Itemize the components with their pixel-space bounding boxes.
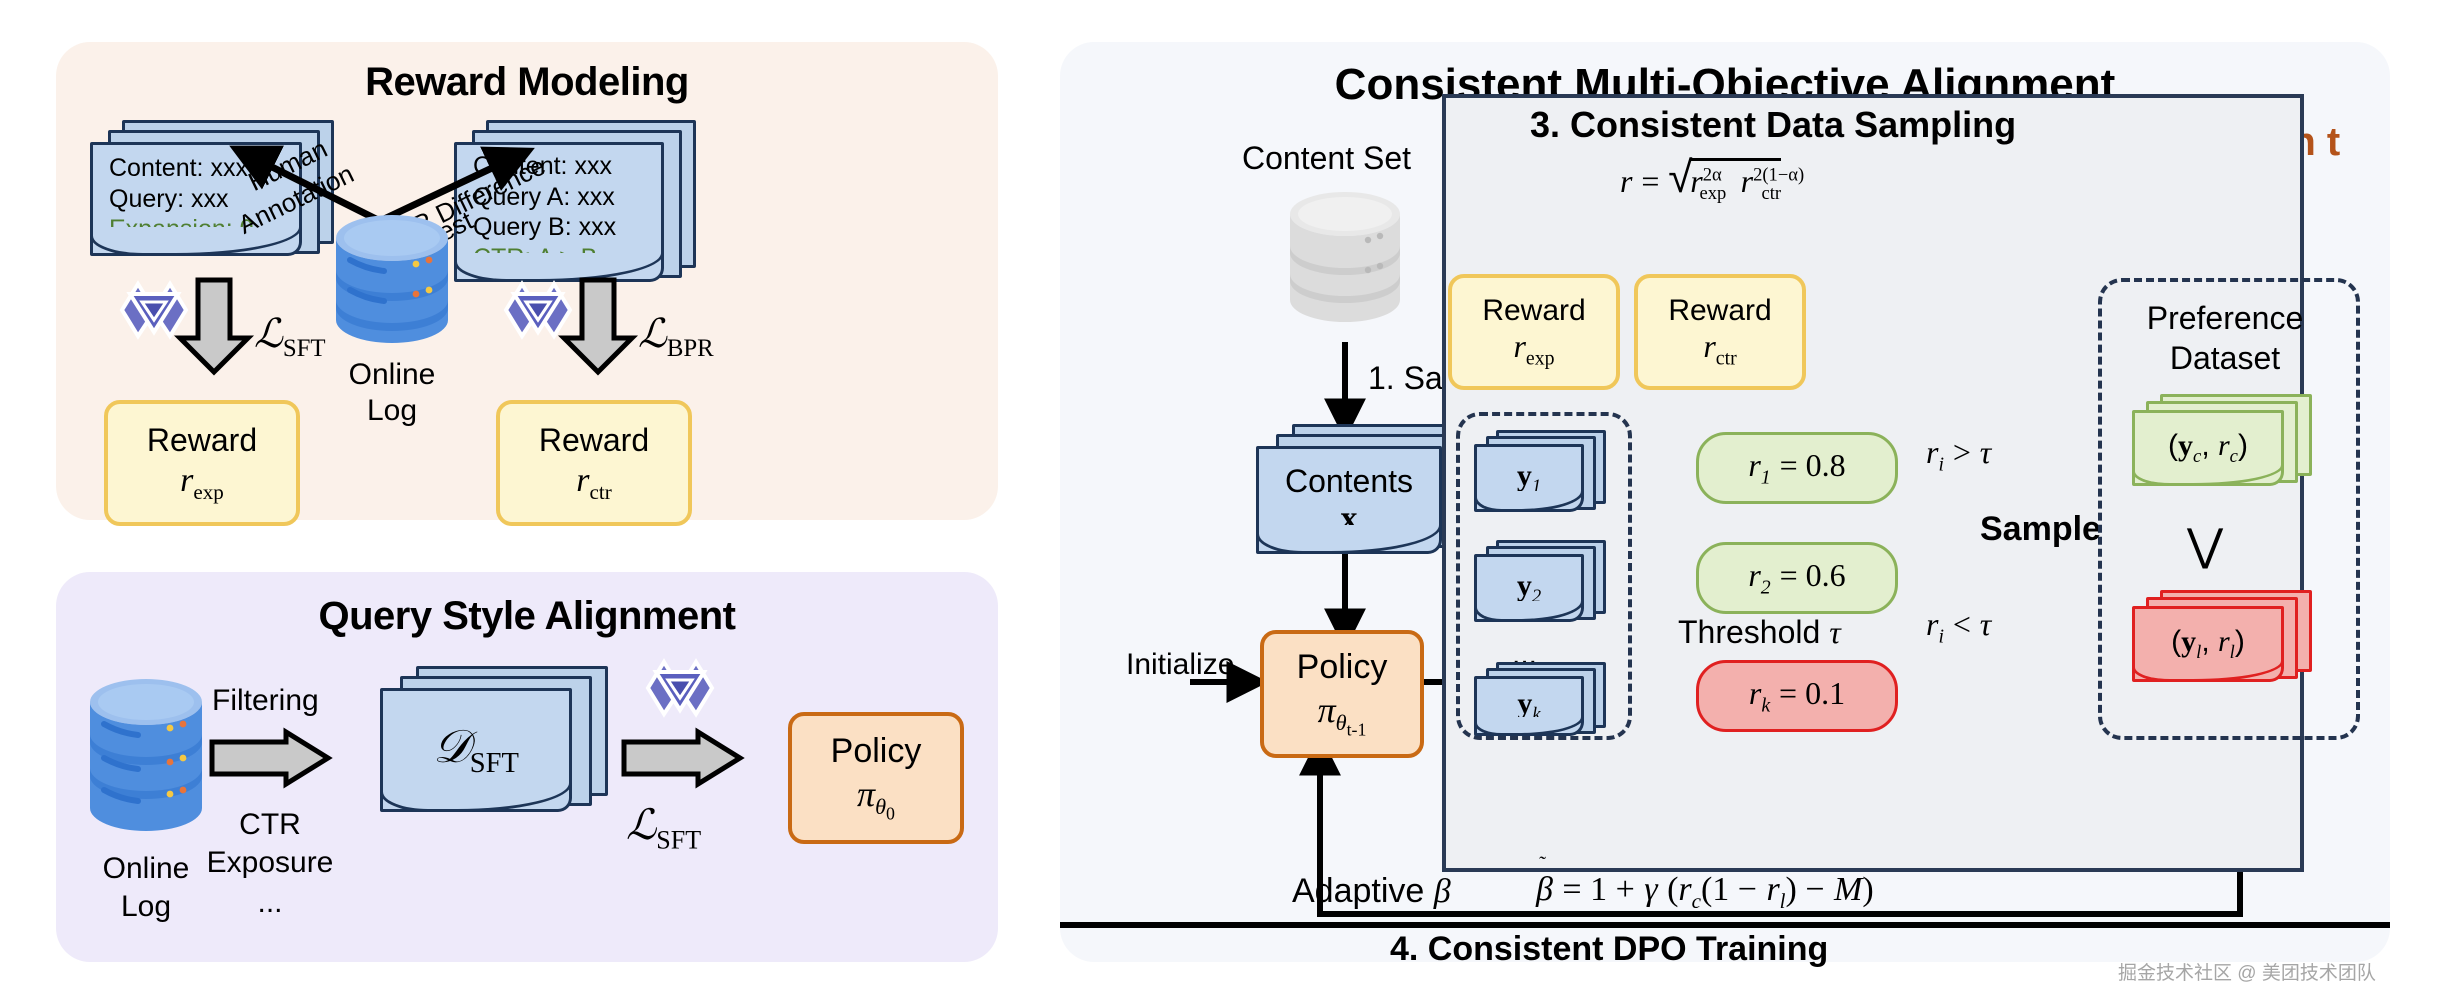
reward-chip-rk-label: rk = 0.1 <box>1749 675 1845 717</box>
bpr-loss-label: ℒBPR <box>638 310 714 363</box>
candidate-y2-card: y2 <box>1474 554 1584 622</box>
card-wave-decoration <box>2132 465 2284 486</box>
model-logo-icon <box>506 284 570 336</box>
card-wave-decoration <box>2132 661 2284 682</box>
query-sft-loss-label: ℒSFT <box>626 800 701 855</box>
threshold-label: Threshold τ <box>1678 614 1841 651</box>
rejected-pair-label: (yl, rl) <box>2171 625 2245 664</box>
card-wave-decoration <box>1256 525 1442 554</box>
query-online-log-label-line1: Online <box>86 852 206 886</box>
condition-above-threshold: ri > τ <box>1926 434 1991 476</box>
down-block-arrow <box>564 280 632 372</box>
contents-label: Contents <box>1285 463 1413 500</box>
preference-dataset-title-line2: Dataset <box>2098 340 2352 377</box>
initialize-label: Initialize <box>1126 648 1234 682</box>
reward-modeling-panel: Reward Modeling Content: xxx Query: xxx … <box>56 42 998 520</box>
dpo-feedback-line <box>1060 922 2390 928</box>
query-style-alignment-panel: Query Style Alignment Online Log Filteri… <box>56 572 998 962</box>
cmoa-reward-exp-title: Reward <box>1482 294 1585 328</box>
sample-label: Sample <box>1980 510 2101 549</box>
model-logo-icon <box>648 662 712 714</box>
step4-label: 4. Consistent DPO Training <box>1390 930 1828 969</box>
step3-title: 3. Consistent Data Sampling <box>1530 104 2016 146</box>
filter-criteria-exposure: Exposure <box>190 846 350 880</box>
contents-card: Contents x <box>1256 446 1442 554</box>
filtering-block-arrow <box>212 732 362 802</box>
reward-exp-box: Reward rexp <box>104 400 300 526</box>
cmoa-reward-ctr-title: Reward <box>1668 294 1771 328</box>
query-sft-loss-subscript: SFT <box>656 825 701 854</box>
reward-ctr-subscript: ctr <box>590 479 612 503</box>
reward-exp-title: Reward <box>147 422 257 459</box>
watermark: 掘金技术社区 @ 美团技术团队 <box>2118 958 2376 985</box>
adaptive-beta-label: Adaptive β <box>1292 872 1451 911</box>
bpr-down-arrow-group <box>474 280 774 390</box>
policy-initial-box: Policy πθ0 <box>788 712 964 844</box>
filter-criteria-ellipsis: ... <box>208 886 332 920</box>
bpr-loss-subscript: BPR <box>667 335 714 362</box>
sft-down-arrow-group <box>90 280 390 390</box>
cmoa-reward-ctr-subscript: ctr <box>1716 347 1737 369</box>
policy-current-symbol: πθt-1 <box>1318 689 1367 741</box>
chosen-pair-stack: (yc, rc) <box>2132 394 2332 504</box>
candidate-yk-card: yk <box>1474 676 1584 736</box>
reward-chip-r1-label: r1 = 0.8 <box>1748 447 1845 489</box>
sft-loss-subscript: SFT <box>283 335 326 362</box>
cmoa-reward-ctr-box: Reward rctr <box>1634 274 1806 390</box>
online-log-database-icon <box>90 678 202 838</box>
preference-dataset-title-line1: Preference <box>2098 300 2352 337</box>
reward-chip-r2: r2 = 0.6 <box>1696 542 1898 614</box>
candidate-y1-card: y1 <box>1474 444 1584 512</box>
candidate-yk-stack: yk <box>1472 662 1612 758</box>
threshold-text: Threshold <box>1678 614 1820 650</box>
chosen-pair-card: (yc, rc) <box>2132 410 2284 486</box>
reward-exp-symbol: rexp <box>180 461 224 505</box>
card-wave-decoration <box>1474 491 1584 512</box>
cmoa-reward-ctr-symbol: rctr <box>1703 328 1736 370</box>
card-wave-decoration <box>1474 601 1584 622</box>
down-block-arrow <box>180 280 248 372</box>
cmoa-reward-exp-symbol: rexp <box>1513 328 1554 370</box>
candidate-y1-stack: y1 <box>1472 430 1612 526</box>
adaptive-text: Adaptive <box>1292 872 1424 910</box>
query-style-alignment-title: Query Style Alignment <box>56 594 998 639</box>
policy-initial-subscript: 0 <box>886 803 895 823</box>
reward-ctr-symbol: rctr <box>576 461 611 505</box>
adaptive-beta-formula: β˜ = 1 + γ (rc(1 − rl) − M) <box>1536 870 1874 914</box>
reward-ctr-box: Reward rctr <box>496 400 692 526</box>
query-online-log-label-line2: Log <box>86 890 206 924</box>
reward-chip-rk: rk = 0.1 <box>1696 660 1898 732</box>
reward-chip-r1: r1 = 0.8 <box>1696 432 1898 504</box>
union-symbol: ⋁ <box>2132 520 2278 571</box>
reward-exp-subscript: exp <box>193 479 223 503</box>
model-logo-icon <box>122 284 186 336</box>
condition-below-threshold: ri < τ <box>1926 606 1991 648</box>
card-wave-decoration <box>1474 717 1584 736</box>
cmoa-reward-exp-subscript: exp <box>1526 347 1555 369</box>
cmoa-reward-exp-box: Reward rexp <box>1448 274 1620 390</box>
policy-current-subscript: t-1 <box>1347 719 1367 739</box>
chosen-pair-label: (yc, rc) <box>2168 429 2248 468</box>
policy-current-title: Policy <box>1297 648 1388 687</box>
rejected-pair-card: (yl, rl) <box>2132 606 2284 682</box>
sft-dataset-card-stack: 𝒟SFT <box>374 666 614 846</box>
sft-dataset-symbol: 𝒟SFT <box>433 719 519 780</box>
policy-initial-title: Policy <box>831 732 922 771</box>
sft-dataset-subscript: SFT <box>470 749 519 780</box>
cmoa-panel: Consistent Multi-Objective Alignment Ite… <box>1060 42 2390 962</box>
filtering-label: Filtering <box>212 684 319 718</box>
sft-loss-label: ℒSFT <box>254 310 326 363</box>
sft-dataset-card: 𝒟SFT <box>380 688 572 812</box>
reward-chip-r2-label: r2 = 0.6 <box>1748 557 1845 599</box>
consistent-reward-formula: r = √ r2αexpr2(1−α)ctr <box>1620 158 1781 205</box>
reward-ctr-title: Reward <box>539 422 649 459</box>
online-log-label-line2: Log <box>332 394 452 428</box>
card-wave-decoration <box>380 783 572 812</box>
rejected-pair-stack: (yl, rl) <box>2132 590 2332 700</box>
right-block-arrow <box>624 732 740 784</box>
policy-initial-symbol: πθ0 <box>857 773 895 825</box>
filter-criteria-ctr: CTR <box>208 808 332 842</box>
candidate-y2-stack: y2 <box>1472 540 1612 636</box>
policy-current-box: Policy πθt-1 <box>1260 630 1424 758</box>
